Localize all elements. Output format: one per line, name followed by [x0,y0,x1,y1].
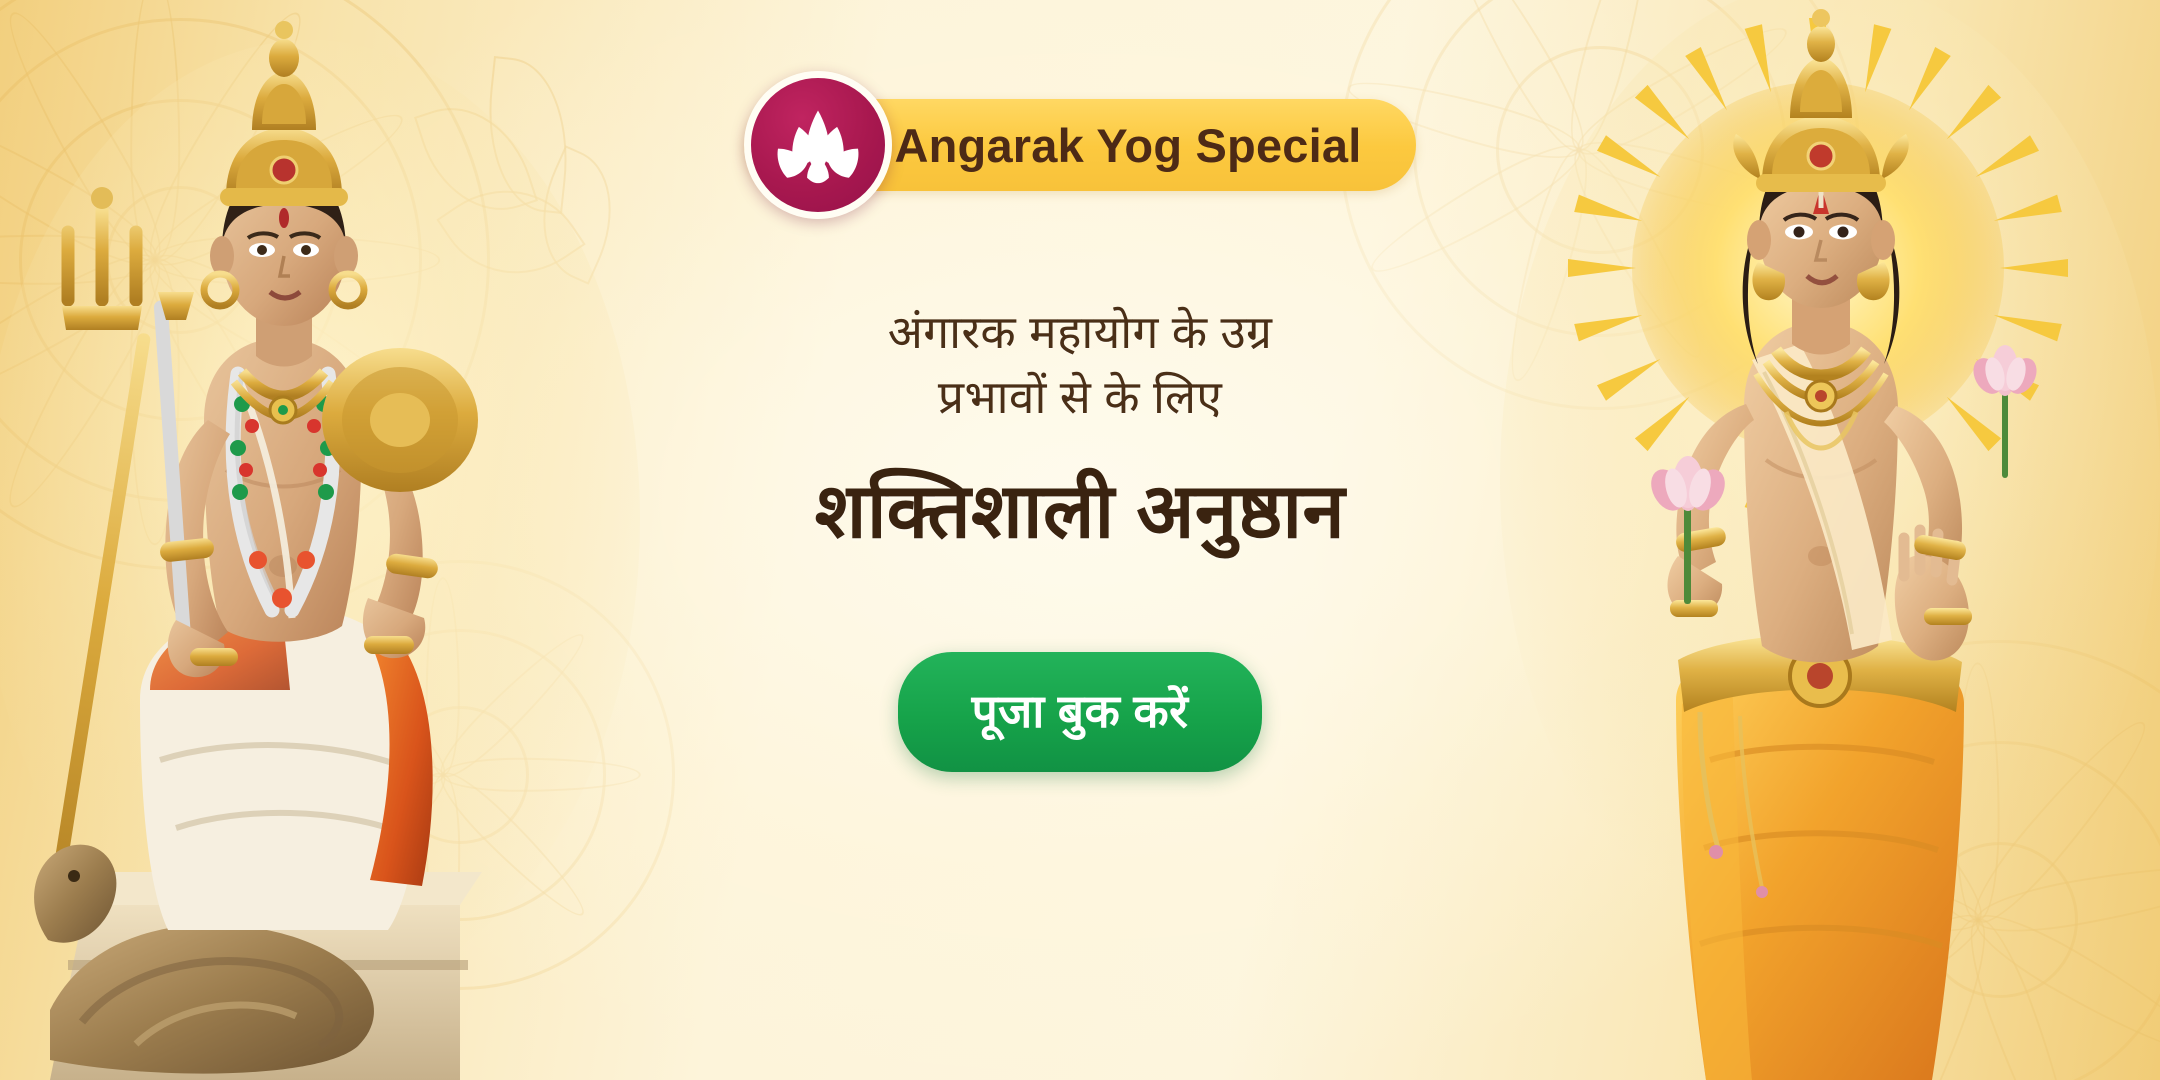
lotus-icon [772,105,864,185]
headline: शक्तिशाली अनुष्ठान [815,457,1345,560]
cta-container: पूजा बुक करें [898,652,1263,772]
subheadline-line-2: प्रभावों से के लिए [888,365,1272,430]
promo-badge-label: Angarak Yog Special [894,118,1361,173]
subheadline-line-1: अंगारक महायोग के उग्र [888,300,1272,365]
promo-banner: Angarak Yog Special अंगारक महायोग के उग्… [0,0,2160,1080]
promo-badge: Angarak Yog Special [744,86,1415,204]
banner-content: Angarak Yog Special अंगारक महायोग के उग्… [550,0,1610,1080]
lotus-icon-circle [744,71,892,219]
book-puja-button[interactable]: पूजा बुक करें [898,652,1263,772]
subheadline: अंगारक महायोग के उग्र प्रभावों से के लिए [888,300,1272,431]
